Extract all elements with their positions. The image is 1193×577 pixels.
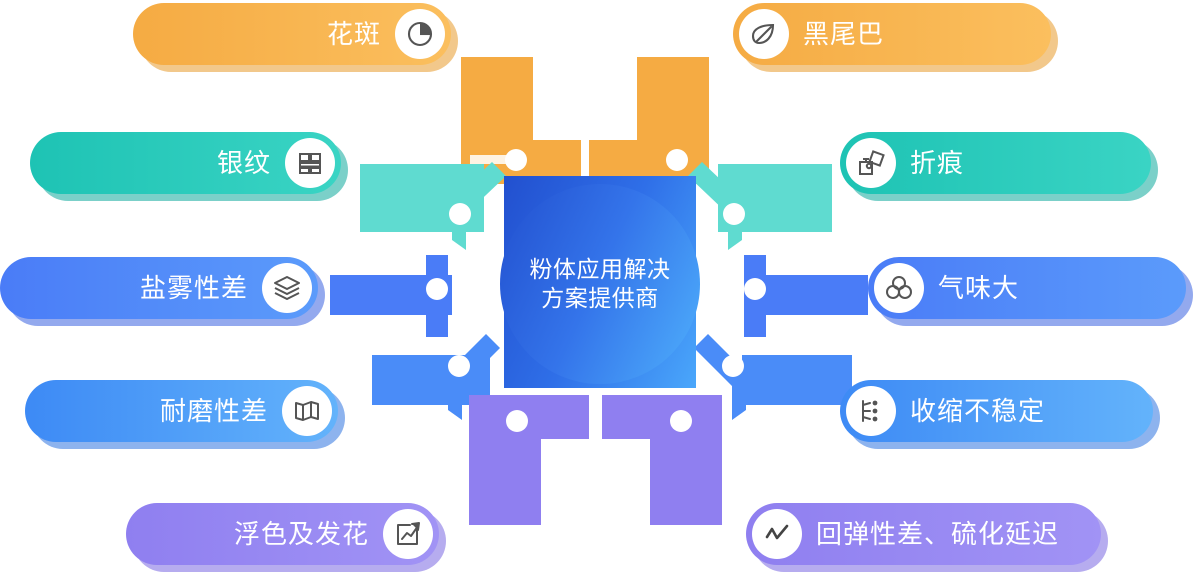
map-book-icon — [282, 386, 332, 436]
leaf-icon — [739, 9, 789, 59]
connector-qi-wei-da — [744, 255, 868, 337]
pill-label-hua-ban: 花斑 — [327, 21, 381, 47]
pill-zhe-hen[interactable]: 折痕 — [840, 132, 1151, 194]
trending-up-box-icon — [383, 509, 433, 559]
pill-shou-suo-bu-wen-ding[interactable]: 收缩不稳定 — [840, 380, 1153, 442]
hierarchy-tree-icon — [846, 386, 896, 436]
pill-hui-tan-xing-cha[interactable]: 回弹性差、硫化延迟 — [746, 503, 1101, 565]
pill-label-shou-suo-bu-wen-ding: 收缩不稳定 — [910, 398, 1045, 424]
center-node: 粉体应用解决 方案提供商 — [504, 176, 696, 388]
pill-label-qi-wei-da: 气味大 — [938, 275, 1019, 301]
pill-fu-se-ji-fa-hua[interactable]: 浮色及发花 — [126, 503, 439, 565]
pill-label-nai-mo-xing-cha: 耐磨性差 — [160, 398, 268, 424]
line-chart-icon — [752, 509, 802, 559]
puzzle-piece-icon — [846, 138, 896, 188]
pie-chart-icon — [395, 9, 445, 59]
pill-qi-wei-da[interactable]: 气味大 — [868, 257, 1186, 319]
pill-label-yan-wu-xing-cha: 盐雾性差 — [140, 275, 248, 301]
pill-label-fu-se-ji-fa-hua: 浮色及发花 — [234, 521, 369, 547]
infographic-canvas: 粉体应用解决 方案提供商 花斑 黑尾巴 — [0, 0, 1193, 577]
pill-label-hui-tan-xing-cha: 回弹性差、硫化延迟 — [816, 521, 1059, 547]
connector-hui-tan-xing-cha — [602, 395, 722, 525]
pill-nai-mo-xing-cha[interactable]: 耐磨性差 — [25, 380, 338, 442]
connector-yan-wu-xing-cha — [330, 255, 452, 337]
pill-yin-wen[interactable]: 银纹 — [30, 132, 341, 194]
pill-label-yin-wen: 银纹 — [217, 150, 271, 176]
pill-yan-wu-xing-cha[interactable]: 盐雾性差 — [0, 257, 318, 319]
recycle-circles-icon — [874, 263, 924, 313]
connector-fu-se-ji-fa-hua — [469, 395, 589, 525]
center-title: 粉体应用解决 方案提供商 — [530, 255, 671, 313]
pill-label-zhe-hen: 折痕 — [910, 150, 964, 176]
connector-zhe-hen — [688, 162, 832, 250]
connector-hei-wei-ba — [589, 57, 709, 184]
connector-yin-wen — [360, 162, 506, 250]
center-circle: 粉体应用解决 方案提供商 — [500, 184, 700, 384]
pill-hua-ban[interactable]: 花斑 — [133, 3, 451, 65]
layers-icon — [262, 263, 312, 313]
brick-wall-icon — [285, 138, 335, 188]
pill-hei-wei-ba[interactable]: 黑尾巴 — [733, 3, 1051, 65]
pill-label-hei-wei-ba: 黑尾巴 — [803, 21, 884, 47]
